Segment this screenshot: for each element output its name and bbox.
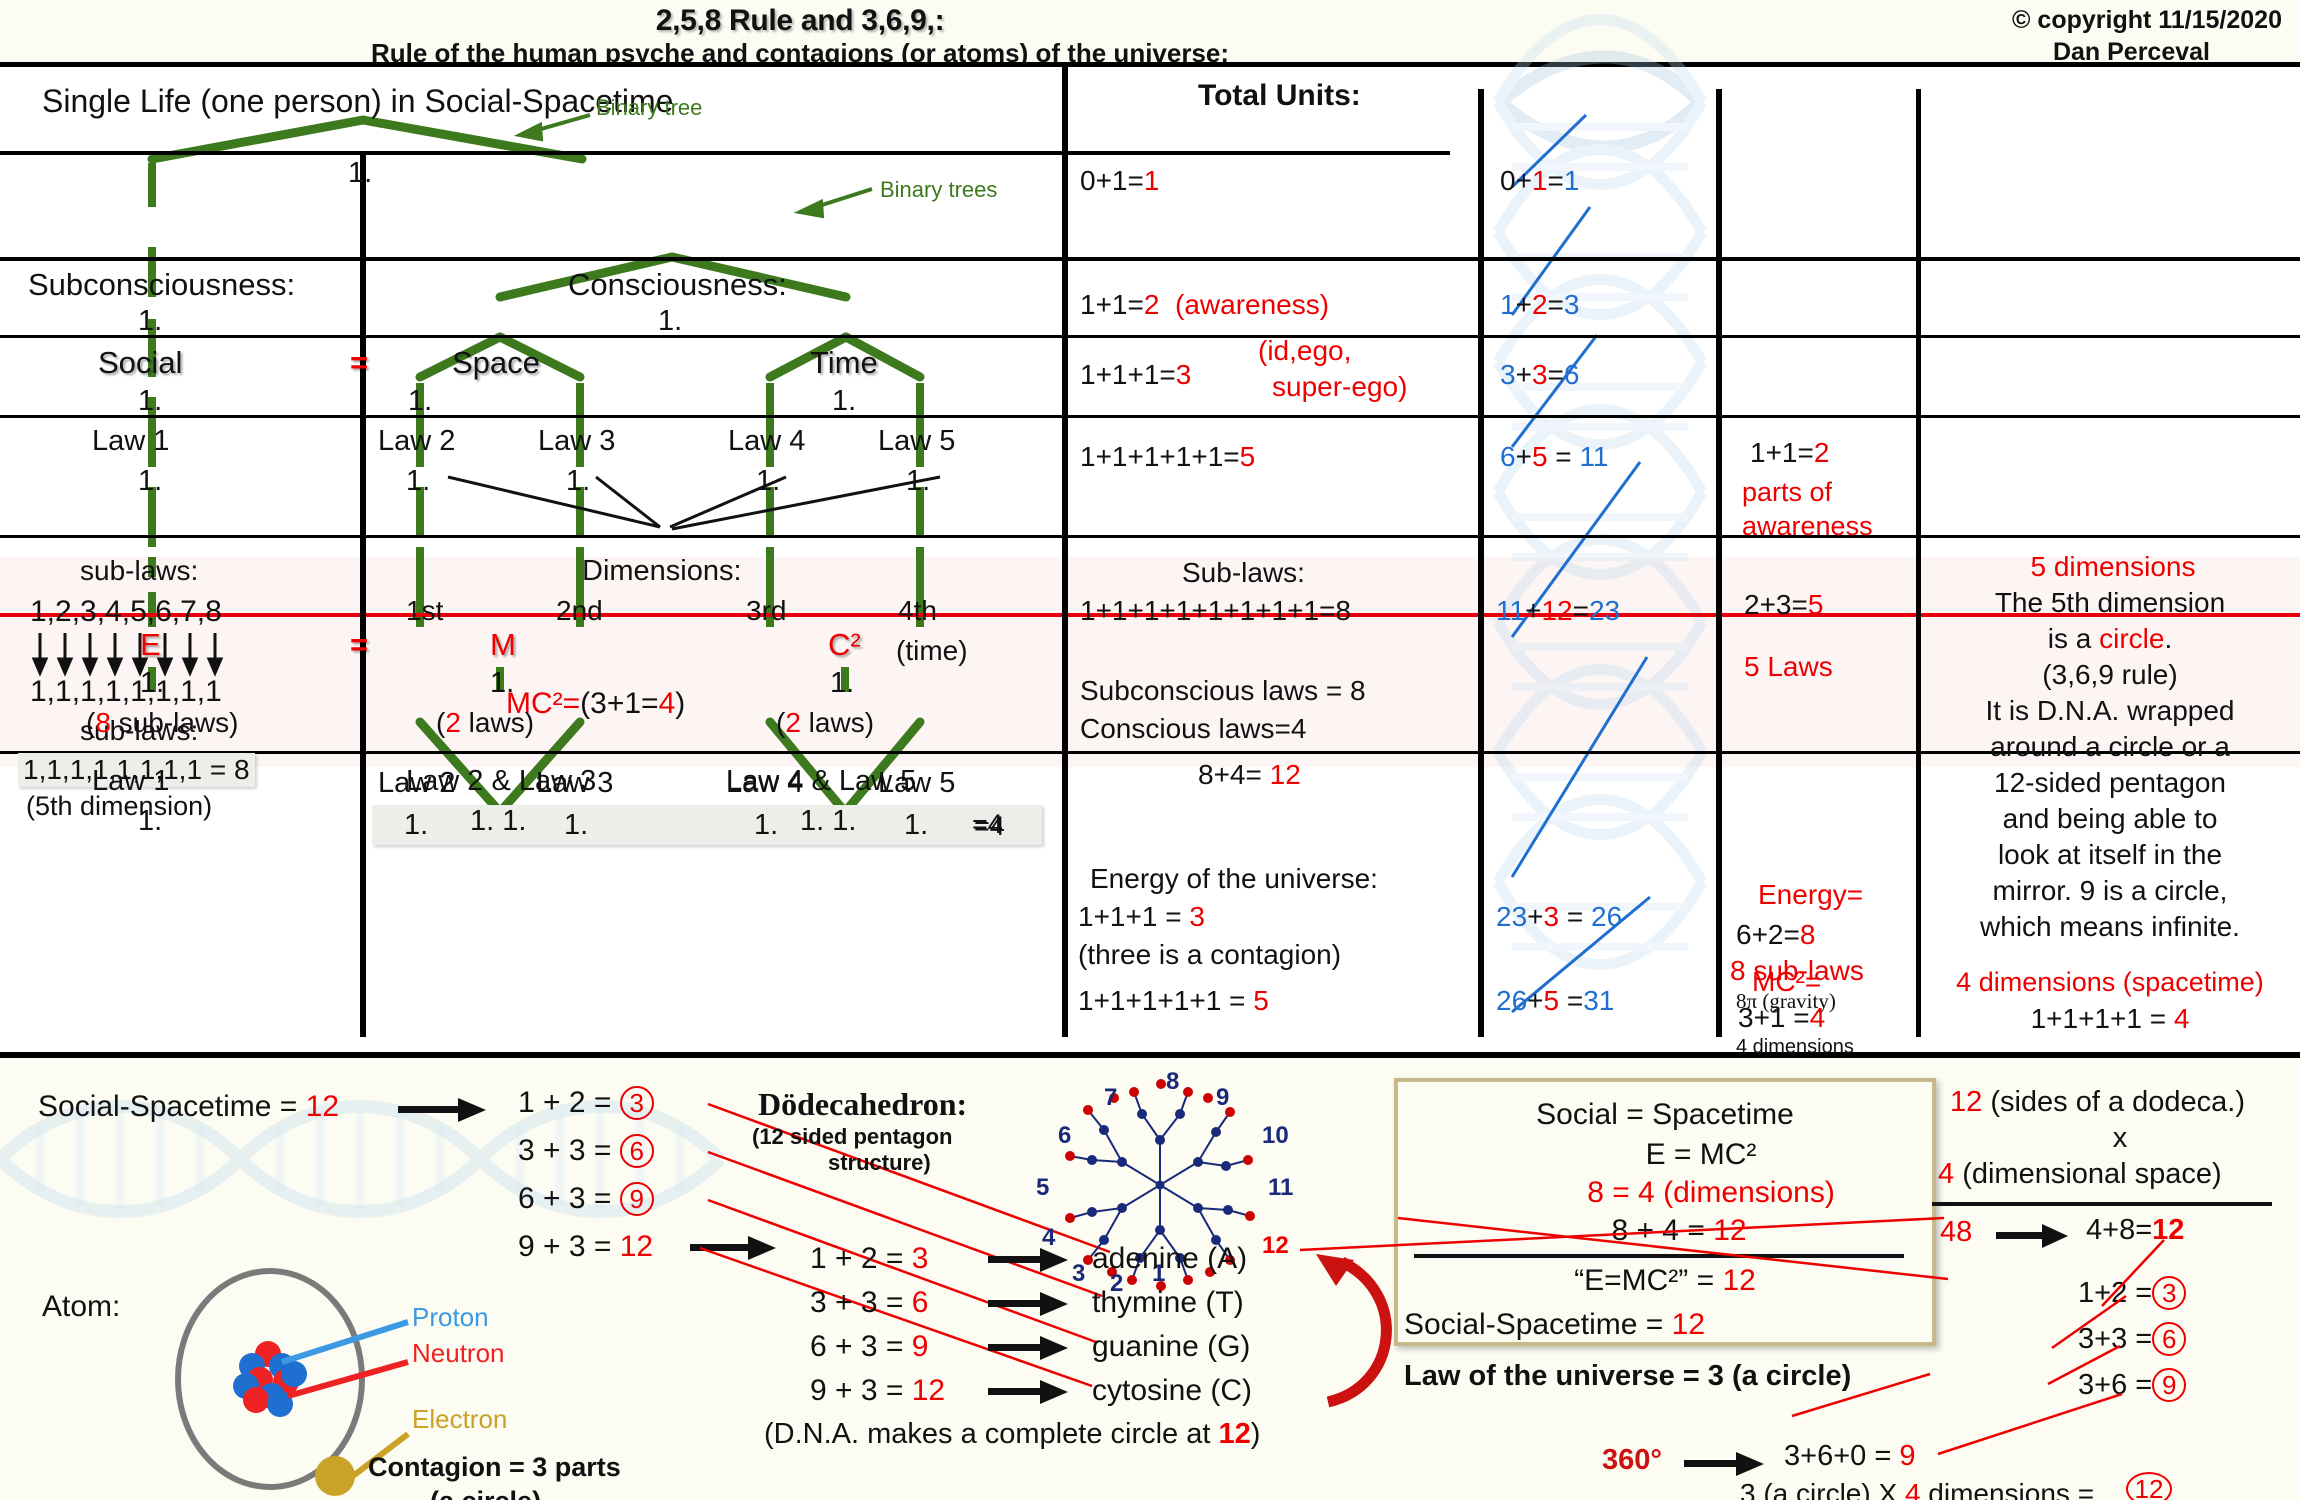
- dodeca-num-11: 11: [1268, 1174, 1293, 1202]
- base-cytosine: cytosine (C): [1092, 1374, 1252, 1408]
- social-spacetime-label: Social-Spacetime = 12: [38, 1090, 339, 1124]
- degrees-result-12: 12: [2126, 1472, 2172, 1500]
- colB-row-0: 0+1=1: [1080, 165, 1159, 197]
- page-title: 2,5,8 Rule and 3,6,9,:: [0, 4, 1600, 38]
- social-label: Social: [98, 345, 182, 381]
- hrule-2: [0, 257, 2300, 261]
- vrule-colD: [1916, 89, 1921, 1037]
- law-5-count-b: 1.: [904, 809, 928, 842]
- contagion-caption-1: Contagion = 3 parts: [368, 1452, 621, 1483]
- right-block-l1: 12 (sides of a dodeca.): [1950, 1086, 2245, 1119]
- dna-chain-row-3: 9 + 3 = 12: [810, 1374, 945, 1408]
- colE-line-0: The 5th dimension: [1924, 587, 2296, 619]
- colB-energy-label: Energy of the universe:: [1090, 863, 1378, 895]
- colB-row-2-note2: super-ego): [1272, 371, 1407, 403]
- colD-mc2-title: MC²=: [1752, 966, 1821, 998]
- dimension-4th-time: (time): [896, 635, 968, 667]
- colD-row-0-l2: awareness: [1742, 511, 1873, 542]
- contagion-caption-2: (a circle): [430, 1486, 541, 1500]
- dimension-2nd: 2nd: [556, 595, 603, 627]
- colE-line-4: around a circle or a: [1924, 731, 2296, 763]
- mc2-open: (3+1=: [580, 687, 658, 720]
- colC-row-2: 3+3=6: [1500, 359, 1579, 391]
- bottom-panel: Social-Spacetime = 12 1 + 2 = 3 3 + 3 = …: [0, 1064, 2300, 1500]
- colD-energy-eq: 6+2=8: [1736, 919, 1815, 951]
- center-box-l2: E = MC²: [1430, 1138, 1972, 1172]
- right-block-divider: [1932, 1202, 2272, 1206]
- right-block-row-2: 3+6 =9: [2078, 1368, 2186, 1402]
- colE-line-6: and being able to: [1924, 803, 2296, 835]
- dimensions-label: Dimensions:: [582, 555, 742, 588]
- dodeca-num-9: 9: [1216, 1084, 1229, 1112]
- right-block-row-0: 1+2 =3: [2078, 1276, 2186, 1310]
- colE-line-5: 12-sided pentagon: [1924, 767, 2296, 799]
- dna-chain-row-0: 1 + 2 = 3: [810, 1242, 928, 1276]
- mass-laws-note: (2 laws): [436, 707, 534, 739]
- equals-sign-1: =: [350, 345, 368, 381]
- dna-circle-note: (D.N.A. makes a complete circle at 12): [764, 1418, 1260, 1451]
- colC-row-6: 26+5 =31: [1496, 985, 1614, 1017]
- subconsciousness-count: 1.: [138, 305, 162, 338]
- law-4-count-b: 1.: [754, 809, 778, 842]
- vrule-colB: [1478, 89, 1484, 1037]
- atom-label: Atom:: [42, 1290, 120, 1324]
- electron-icon: [315, 1456, 355, 1496]
- hrule-5: [0, 535, 2300, 538]
- colC-row-0: 0+1=1: [1500, 165, 1579, 197]
- law-5-count: 1.: [906, 465, 930, 498]
- law-1-label: Law 1: [92, 425, 169, 458]
- center-box-l5: “E=MC²” = 12: [1394, 1264, 1936, 1298]
- colB-row-2: 1+1+1=3: [1080, 359, 1191, 391]
- law-3-count-b: 1.: [564, 809, 588, 842]
- dodecahedron-title: Dödecahedron:: [758, 1086, 967, 1123]
- right-block-row-1: 3+3 =6: [2078, 1322, 2186, 1356]
- law-23-final-count: 1. 1.: [470, 805, 526, 838]
- electron-label: Electron: [412, 1404, 507, 1435]
- law-1-count: 1.: [138, 465, 162, 498]
- proton-label: Proton: [412, 1302, 489, 1333]
- root-count: 1.: [348, 157, 372, 190]
- law-4-label: Law 4: [728, 425, 805, 458]
- colB-total-12: 8+4= 12: [1198, 759, 1301, 791]
- colC-row-4: 11+12=23: [1496, 595, 1620, 627]
- hrule-3: [0, 335, 2300, 338]
- chain1-row-1: 3 + 3 = 6: [518, 1134, 654, 1168]
- law-3-label: Law 3: [538, 425, 615, 458]
- neutron-label: Neutron: [412, 1338, 505, 1369]
- colB-row-6: 1+1+1+1+1 = 5: [1078, 985, 1269, 1017]
- center-box-l4: 8 + 4 = 12: [1408, 1214, 1950, 1248]
- colE-last-title: 4 dimensions (spacetime): [1924, 967, 2296, 998]
- vrule-subcon: [360, 151, 366, 1037]
- colC-row-3: 6+5 = 11: [1500, 441, 1609, 473]
- colD-row-0-eq: 1+1=2: [1750, 437, 1829, 469]
- hrule-1: [0, 151, 1450, 155]
- page-header: 2,5,8 Rule and 3,6,9,: Rule of the human…: [0, 0, 2300, 62]
- law-4-count: 1.: [756, 465, 780, 498]
- colB-sublaws-label: Sub-laws:: [1182, 557, 1305, 589]
- vrule-colC: [1716, 89, 1722, 1037]
- center-box-l1: Social = Spacetime: [1394, 1098, 1936, 1132]
- dimension-3rd: 3rd: [746, 595, 786, 627]
- colC-row-5: 23+3 = 26: [1496, 901, 1622, 933]
- mc2-close: ): [675, 687, 685, 720]
- colB-subconscious-laws: Subconscious laws = 8: [1080, 675, 1366, 707]
- colB-sublaws-sum: 1+1+1+1+1+1+1+1=8: [1080, 595, 1351, 627]
- dodecahedron-sub-2: structure): [828, 1150, 931, 1176]
- colE-line-3: It is D.N.A. wrapped: [1924, 695, 2296, 727]
- law-45-final: Law 4 & Law 5: [726, 765, 916, 798]
- colB-energy-note: (three is a contagion): [1078, 939, 1341, 971]
- law-2-count-b: 1.: [404, 809, 428, 842]
- dodeca-num-6: 6: [1058, 1122, 1071, 1150]
- law-of-universe: Law of the universe = 3 (a circle): [1404, 1360, 1851, 1393]
- arrow-right-4: [1996, 1224, 2096, 1260]
- equals-sign-2: =: [350, 627, 368, 663]
- law-45-final-count: 1. 1.: [800, 805, 856, 838]
- vrule-colA: [1062, 67, 1068, 1037]
- hrule-4: [0, 415, 2300, 418]
- center-box-l6: Social-Spacetime = 12: [1404, 1308, 1705, 1342]
- colD-mc2-dims: 4 dimensions: [1736, 1036, 1854, 1059]
- mc2-result: 4: [659, 687, 676, 720]
- dimension-4th: 4th: [898, 595, 937, 627]
- mass-symbol: M: [490, 627, 516, 663]
- space-label: Space: [452, 345, 540, 381]
- binary-trees-annotation: Binary trees: [880, 177, 997, 203]
- right-block-l4: 4+8=12: [2086, 1214, 2184, 1247]
- main-table: Single Life (one person) in Social-Space…: [0, 62, 2300, 1058]
- law-1-final: Law 1: [92, 765, 169, 798]
- energy-sublaws-note: (8 sub-laws): [86, 707, 239, 739]
- consciousness-count: 1.: [658, 305, 682, 338]
- law-3-count: 1.: [566, 465, 590, 498]
- law-5-label: Law 5: [878, 425, 955, 458]
- dna-chain-row-1: 3 + 3 = 6: [810, 1286, 928, 1320]
- base-adenine: adenine (A): [1092, 1242, 1247, 1276]
- colB-energy-eq: 1+1+1 = 3: [1078, 901, 1205, 933]
- c-squared-symbol: C²: [828, 627, 861, 663]
- colD-row-1-eq: 2+3=5: [1744, 589, 1823, 621]
- law-2-label: Law 2: [378, 425, 455, 458]
- center-box-l3: 8 = 4 (dimensions): [1440, 1176, 1982, 1210]
- c-count: 1.: [830, 667, 854, 700]
- chain1-row-2: 6 + 3 = 9: [518, 1182, 654, 1216]
- total-units-header: Total Units:: [1198, 79, 1361, 113]
- time-count: 1.: [832, 385, 856, 418]
- arrow-right-1: [398, 1096, 518, 1136]
- dodeca-num-4: 4: [1042, 1224, 1055, 1252]
- dna-chain-row-2: 6 + 3 = 9: [810, 1330, 928, 1364]
- base-thymine: thymine (T): [1092, 1286, 1244, 1320]
- atom-orbit-icon: [178, 1271, 362, 1487]
- consciousness-label: Consciousness:: [568, 267, 787, 303]
- colE-last-eq: 1+1+1+1 = 4: [1924, 1003, 2296, 1035]
- colE-line-8: mirror. 9 is a circle,: [1924, 875, 2296, 907]
- colB-row-1: 1+1=2 (awareness): [1080, 289, 1329, 321]
- law-23-final: Law 2 & Law 3: [406, 765, 596, 798]
- colE-line-9: which means infinite.: [1924, 911, 2296, 943]
- right-block-l2: x: [1950, 1122, 2290, 1155]
- copyright-text: © copyright 11/15/2020: [2012, 6, 2282, 35]
- colD-energy-title: Energy=: [1758, 879, 1863, 911]
- dodeca-num-12: 12: [1262, 1232, 1289, 1260]
- right-block-l3: 4 (dimensional space): [1938, 1158, 2222, 1191]
- dodeca-num-10: 10: [1262, 1122, 1289, 1150]
- colB-row-3: 1+1+1+1+1=5: [1080, 441, 1255, 473]
- degrees-label: 360°: [1602, 1444, 1662, 1477]
- colE-heading: 5 dimensions: [1930, 551, 2296, 583]
- law-1-final-count: 1.: [138, 805, 162, 838]
- left-header: Single Life (one person) in Social-Space…: [42, 83, 673, 120]
- right-block-48: 48: [1940, 1216, 1972, 1249]
- dodeca-num-5: 5: [1036, 1174, 1049, 1202]
- binary-tree-annotation: Binary tree: [596, 95, 702, 121]
- colD-row-0-l1: parts of: [1742, 477, 1832, 508]
- base-guanine: guanine (G): [1092, 1330, 1250, 1364]
- dodeca-num-7: 7: [1104, 1084, 1117, 1112]
- dodecahedron-sub-1: (12 sided pentagon: [752, 1124, 952, 1150]
- colB-conscious-laws: Conscious laws=4: [1080, 713, 1306, 745]
- sublaws-bottom-list: 1,1,1,1,1,1,1,1: [30, 675, 222, 709]
- arrow-right-2: [690, 1234, 810, 1274]
- colD-row-1-l1: 5 Laws: [1744, 651, 1833, 683]
- nucleus-icon: [233, 1341, 307, 1417]
- dodeca-num-3: 3: [1072, 1260, 1085, 1288]
- degrees-eq: 3+6+0 = 9: [1784, 1440, 1915, 1473]
- laws-equals-4-b: =4: [972, 809, 1003, 840]
- degrees-line2: 3 (a circle) X 4 dimensions =: [1740, 1478, 2094, 1500]
- colB-row-2-note1: (id,ego,: [1258, 335, 1351, 367]
- colE-line-7: look at itself in the: [1924, 839, 2296, 871]
- colE-line-2: (3,6,9 rule): [1924, 659, 2296, 691]
- colC-row-1: 1+2=3: [1500, 289, 1579, 321]
- center-box-divider: [1414, 1254, 1904, 1258]
- law-2-count: 1.: [406, 465, 430, 498]
- sublaws-label-1: sub-laws:: [80, 555, 198, 587]
- energy-count: 1.: [140, 667, 164, 700]
- colD-mc2-eq: 3+1 =4: [1738, 1002, 1825, 1034]
- space-count: 1.: [408, 385, 432, 418]
- chain1-row-3: 9 + 3 = 12: [518, 1230, 653, 1264]
- colE-line-1: is a circle.: [1924, 623, 2296, 655]
- chain1-row-0: 1 + 2 = 3: [518, 1086, 654, 1120]
- social-count: 1.: [138, 385, 162, 418]
- dimension-1st: 1st: [406, 595, 443, 627]
- dodeca-num-8: 8: [1166, 1068, 1179, 1096]
- mass-count: 1.: [490, 667, 514, 700]
- energy-symbol: E: [140, 627, 161, 663]
- time-label: Time: [810, 345, 878, 381]
- c-laws-note: (2 laws): [776, 707, 874, 739]
- sublaws-top-list: 1,2,3,4,5,6,7,8: [30, 595, 222, 629]
- subconsciousness-label: Subconsciousness:: [28, 267, 295, 303]
